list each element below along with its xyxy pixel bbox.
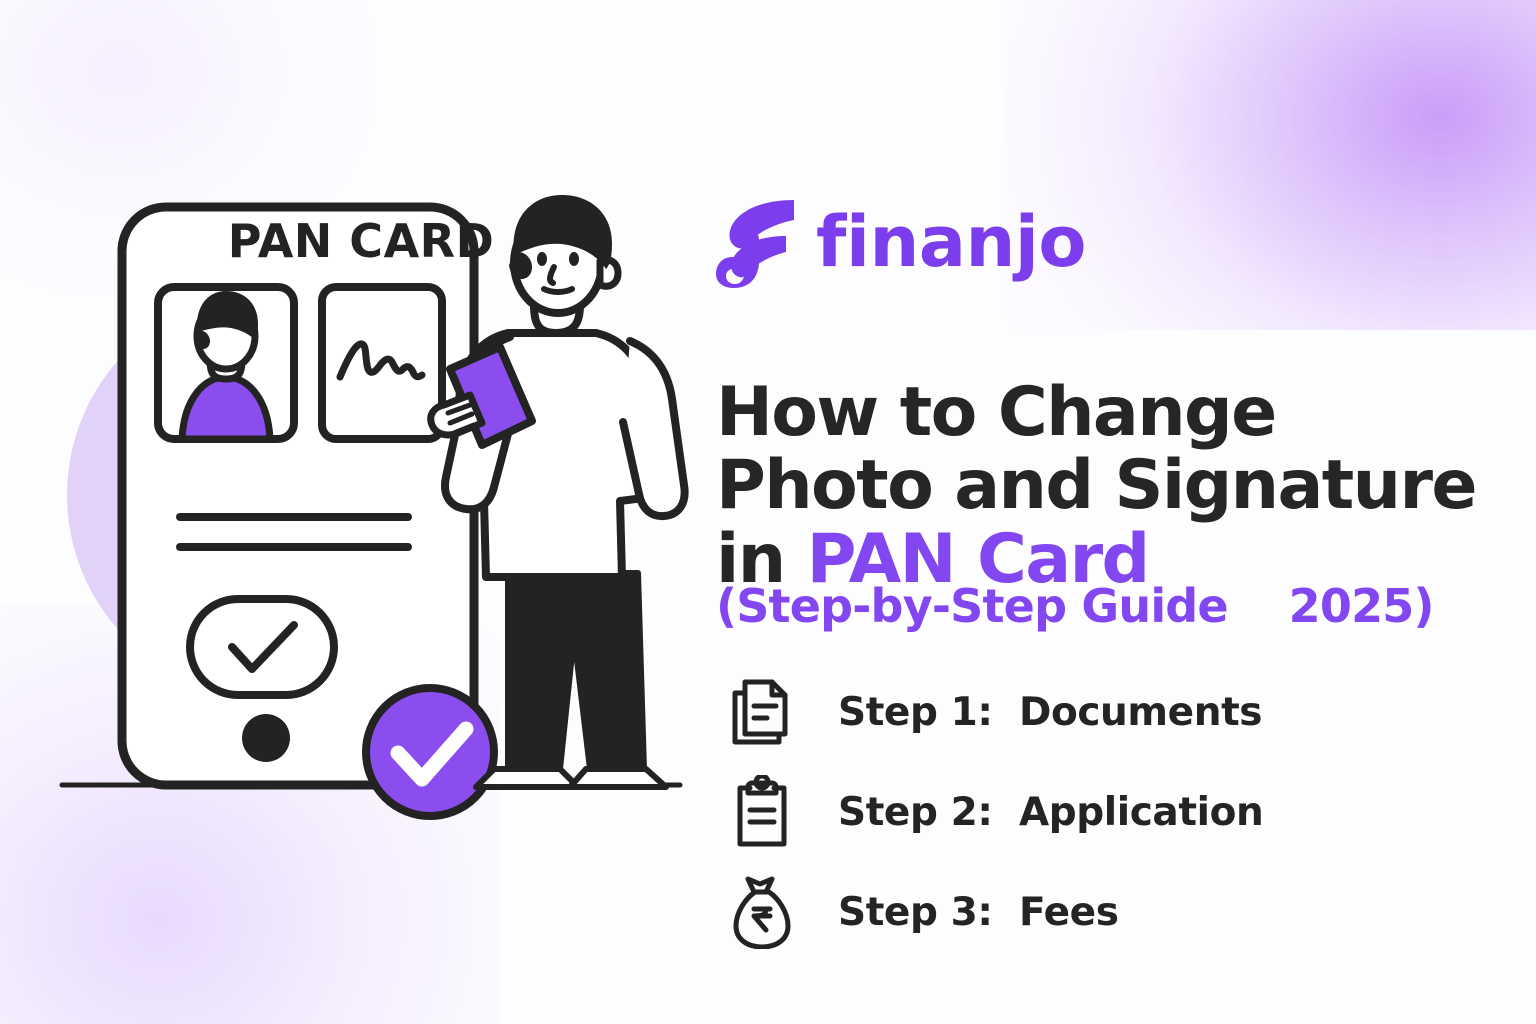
list-item-step-1: Step 1: Documents [726, 662, 1426, 762]
list-item-step-2: Step 2: Application [726, 762, 1426, 862]
finanjo-leaf-mark-icon [716, 196, 800, 288]
poster-canvas: finanjo How to Change Photo and Signatur… [0, 0, 1536, 1024]
headline-line-2: Photo and Signature [716, 446, 1476, 525]
home-button-dot [242, 714, 290, 762]
subtitle: (Step-by-Step Guide 2025) [716, 583, 1434, 629]
money-bag-rupee-icon [726, 872, 798, 952]
step-3-label: Step 3: Fees [838, 890, 1119, 935]
headline-line-1: How to Change [716, 373, 1276, 452]
check-pill-button [190, 599, 334, 695]
purple-check-badge [366, 688, 494, 816]
documents-icon [726, 672, 798, 752]
text-column: finanjo How to Change Photo and Signatur… [712, 0, 1522, 1024]
brand-name: finanjo [816, 207, 1086, 277]
card-title: PAN CARD [196, 218, 526, 264]
signature-box [322, 287, 442, 439]
page-title: How to Change Photo and Signature in PAN… [716, 376, 1516, 597]
step-1-label: Step 1: Documents [838, 690, 1262, 735]
clipboard-icon [726, 772, 798, 852]
photo-box [158, 287, 294, 439]
list-item-step-3: Step 3: Fees [726, 862, 1426, 962]
brand-logo[interactable]: finanjo [716, 196, 1086, 288]
steps-list: Step 1: Documents Step 2: Application [726, 662, 1426, 962]
step-2-label: Step 2: Application [838, 790, 1263, 835]
